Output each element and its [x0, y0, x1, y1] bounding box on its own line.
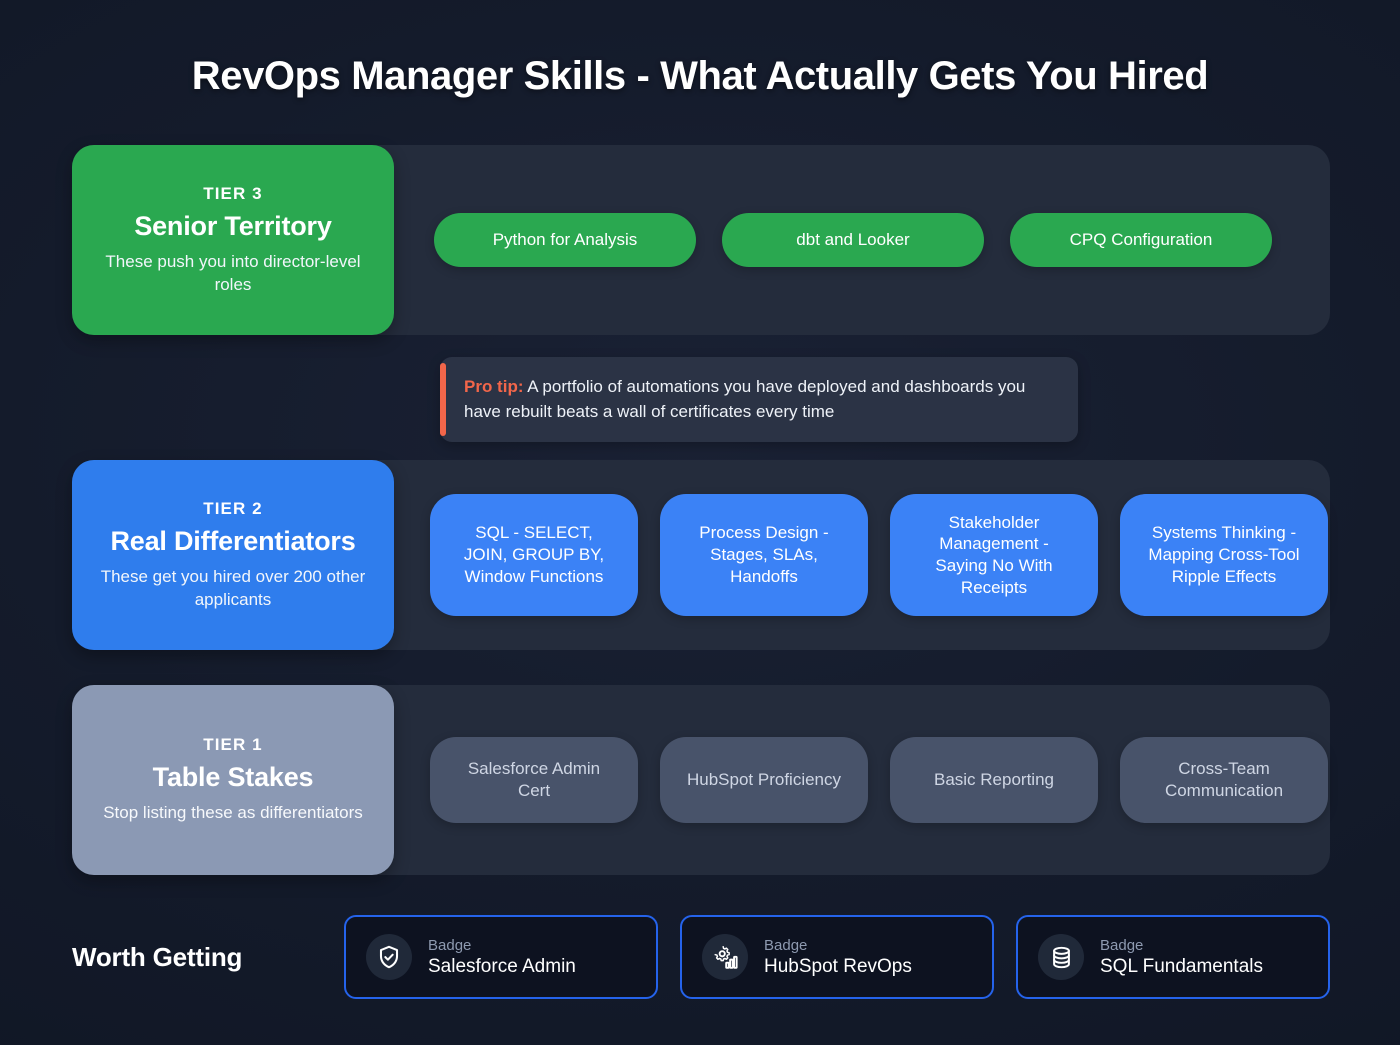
- badge-name: Salesforce Admin: [428, 956, 576, 978]
- tier-3-skill-list: Python for Analysis dbt and Looker CPQ C…: [394, 213, 1330, 267]
- tier-row-3: TIER 3 Senior Territory These push you i…: [72, 145, 1330, 335]
- pro-tip-accent-bar: [440, 363, 446, 436]
- badge-text: Badge HubSpot RevOps: [764, 937, 912, 978]
- skill-pill[interactable]: Process Design - Stages, SLAs, Handoffs: [660, 494, 868, 616]
- skill-pill[interactable]: Python for Analysis: [434, 213, 696, 267]
- badge-card-salesforce-admin[interactable]: Badge Salesforce Admin: [344, 915, 658, 999]
- tier-name: Table Stakes: [153, 762, 314, 793]
- database-icon: [1038, 934, 1084, 980]
- skill-pill[interactable]: Systems Thinking - Mapping Cross-Tool Ri…: [1120, 494, 1328, 616]
- infographic-root: RevOps Manager Skills - What Actually Ge…: [0, 0, 1400, 1045]
- tier-eyebrow: TIER 3: [203, 184, 263, 204]
- tier-row-1: TIER 1 Table Stakes Stop listing these a…: [72, 685, 1330, 875]
- page-title: RevOps Manager Skills - What Actually Ge…: [72, 0, 1328, 99]
- tier-2-skill-list: SQL - SELECT, JOIN, GROUP BY, Window Fun…: [394, 494, 1350, 616]
- tier-card-1: TIER 1 Table Stakes Stop listing these a…: [72, 685, 394, 875]
- skill-pill[interactable]: CPQ Configuration: [1010, 213, 1272, 267]
- tier-description: Stop listing these as differentiators: [103, 802, 363, 825]
- worth-getting-section: Worth Getting Badge Salesforce Admin: [72, 915, 1330, 999]
- tier-description: These push you into director-level roles: [101, 251, 366, 297]
- skill-pill[interactable]: HubSpot Proficiency: [660, 737, 868, 823]
- tier-description: These get you hired over 200 other appli…: [101, 566, 366, 612]
- badge-name: HubSpot RevOps: [764, 956, 912, 978]
- badge-card-sql-fundamentals[interactable]: Badge SQL Fundamentals: [1016, 915, 1330, 999]
- badge-name: SQL Fundamentals: [1100, 956, 1263, 978]
- pro-tip-label: Pro tip:: [464, 377, 524, 396]
- skill-pill[interactable]: SQL - SELECT, JOIN, GROUP BY, Window Fun…: [430, 494, 638, 616]
- tier-name: Real Differentiators: [110, 526, 355, 557]
- tier-card-2: TIER 2 Real Differentiators These get yo…: [72, 460, 394, 650]
- gear-chart-icon: [702, 934, 748, 980]
- tier-1-skill-list: Salesforce Admin Cert HubSpot Proficienc…: [394, 737, 1350, 823]
- worth-getting-label: Worth Getting: [72, 942, 322, 973]
- badge-kicker: Badge: [764, 937, 912, 954]
- shield-check-icon: [366, 934, 412, 980]
- badge-text: Badge Salesforce Admin: [428, 937, 576, 978]
- badge-text: Badge SQL Fundamentals: [1100, 937, 1263, 978]
- pro-tip-callout: Pro tip: A portfolio of automations you …: [440, 357, 1078, 442]
- tier-card-3: TIER 3 Senior Territory These push you i…: [72, 145, 394, 335]
- pro-tip-body: A portfolio of automations you have depl…: [464, 377, 1025, 421]
- badge-kicker: Badge: [428, 937, 576, 954]
- skill-pill[interactable]: Cross-Team Communication: [1120, 737, 1328, 823]
- skill-pill[interactable]: Salesforce Admin Cert: [430, 737, 638, 823]
- badge-kicker: Badge: [1100, 937, 1263, 954]
- skill-pill[interactable]: dbt and Looker: [722, 213, 984, 267]
- pro-tip-text: Pro tip: A portfolio of automations you …: [464, 375, 1056, 424]
- tier-eyebrow: TIER 1: [203, 735, 263, 755]
- badge-card-hubspot-revops[interactable]: Badge HubSpot RevOps: [680, 915, 994, 999]
- skill-pill[interactable]: Basic Reporting: [890, 737, 1098, 823]
- tier-name: Senior Territory: [134, 211, 331, 242]
- tier-eyebrow: TIER 2: [203, 499, 263, 519]
- tier-row-2: TIER 2 Real Differentiators These get yo…: [72, 460, 1330, 650]
- skill-pill[interactable]: Stakeholder Management - Saying No With …: [890, 494, 1098, 616]
